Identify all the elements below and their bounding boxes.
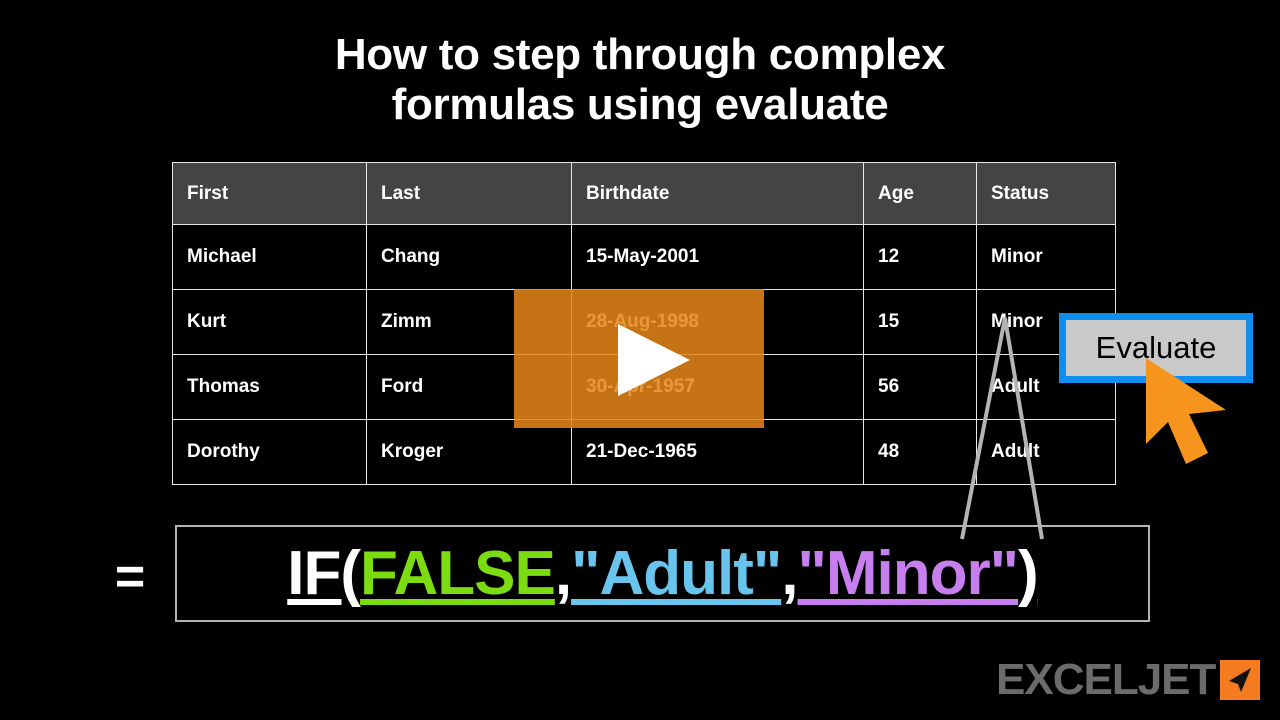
- mouse-pointer-icon: [1138, 352, 1238, 467]
- jet-arrow-icon: [1220, 660, 1260, 700]
- cell-first: Kurt: [173, 290, 367, 355]
- column-header-age: Age: [864, 163, 977, 225]
- formula-function-name: IF(: [287, 538, 360, 609]
- formula-close-paren: ): [1018, 538, 1038, 609]
- column-header-last: Last: [367, 163, 572, 225]
- formula-arg-logical: FALSE: [360, 538, 555, 609]
- page-title: How to step through complex formulas usi…: [0, 30, 1280, 130]
- logo-wordmark: EXCELJET: [996, 658, 1215, 702]
- cell-last: Kroger: [367, 420, 572, 485]
- exceljet-logo: EXCELJET: [996, 655, 1260, 705]
- formula-comma-1: ,: [555, 538, 571, 609]
- equals-sign: =: [100, 551, 160, 603]
- page-title-line-1: How to step through complex: [0, 30, 1280, 80]
- cell-status: Minor: [977, 225, 1116, 290]
- table-row: Michael Chang 15-May-2001 12 Minor: [173, 225, 1116, 290]
- page-title-line-2: formulas using evaluate: [0, 80, 1280, 130]
- formula-arg-false: "Minor": [798, 538, 1019, 609]
- cell-last: Chang: [367, 225, 572, 290]
- formula-callout: = IF(FALSE,"Adult","Minor"): [100, 525, 1160, 625]
- cell-birthdate: 15-May-2001: [572, 225, 864, 290]
- formula-arg-true: "Adult": [571, 538, 781, 609]
- cell-first: Michael: [173, 225, 367, 290]
- formula-expression[interactable]: IF(FALSE,"Adult","Minor"): [175, 525, 1150, 622]
- column-header-first: First: [173, 163, 367, 225]
- callout-pointer: [930, 300, 1070, 540]
- cell-age: 12: [864, 225, 977, 290]
- play-triangle-icon[interactable]: [618, 324, 690, 396]
- formula-comma-2: ,: [781, 538, 797, 609]
- table-header-row: First Last Birthdate Age Status: [173, 163, 1116, 225]
- column-header-birthdate: Birthdate: [572, 163, 864, 225]
- column-header-status: Status: [977, 163, 1116, 225]
- cell-birthdate: 21-Dec-1965: [572, 420, 864, 485]
- cell-first: Thomas: [173, 355, 367, 420]
- cell-first: Dorothy: [173, 420, 367, 485]
